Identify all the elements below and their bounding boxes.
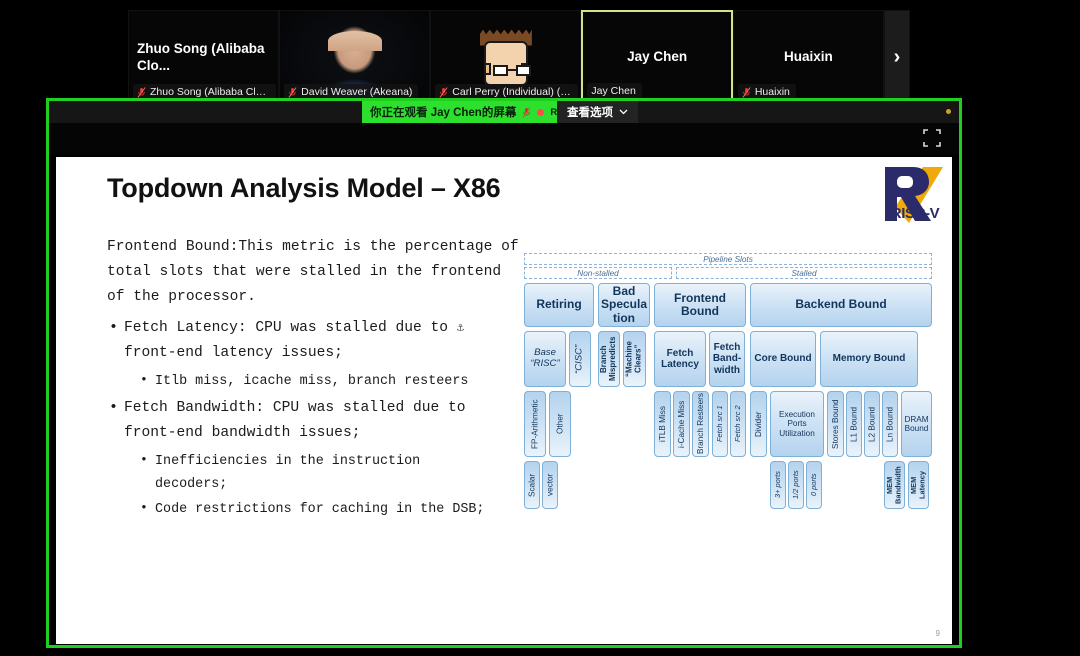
diagram-group-label: Stalled (676, 267, 932, 279)
mic-muted-icon (137, 87, 146, 98)
participant-display-name: Jay Chen (621, 49, 693, 65)
bullet-decoder-inefficiencies: Inefficiencies in the instruction decode… (107, 450, 527, 496)
diagram-node: Fetch Band- width (709, 331, 745, 387)
bullet-fetch-latency: Fetch Latency: CPU was stalled due to ⚓ … (107, 316, 527, 366)
bullet-fetch-bandwidth: Fetch Bandwidth: CPU was stalled due to … (107, 396, 527, 446)
participant-display-name: Zhuo Song (Alibaba Clo... (129, 41, 278, 73)
slide-body-text: Frontend Bound:This metric is the percen… (107, 235, 527, 523)
diagram-node: 0 ports (806, 461, 822, 509)
mouse-cursor-glyph: ⚓ (457, 321, 464, 335)
diagram-node: MEM Bandwidth (884, 461, 905, 509)
connection-status-dot (946, 109, 951, 114)
diagram-node: Memory Bound (820, 331, 918, 387)
view-options-button[interactable]: 查看选项 (557, 101, 638, 123)
diagram-node: Retiring (524, 283, 594, 327)
bullet-dsb-restrictions: Code restrictions for caching in the DSB… (107, 498, 527, 521)
viewing-share-text: 你正在观看 Jay Chen的屏幕 (370, 104, 516, 120)
participant-name-label: Carl Perry (Individual) (he/him) (452, 86, 572, 98)
participant-namebar: Jay Chen (587, 83, 641, 99)
shared-screen-frame: 你正在观看 Jay Chen的屏幕 REC 查看选项 Topdown Analy… (46, 98, 962, 648)
diagram-node: 3+ ports (770, 461, 786, 509)
participant-tile-jay-chen[interactable]: Jay Chen Jay Chen (581, 10, 732, 105)
bullet-latency-causes: Itlb miss, icache miss, branch resteers (107, 370, 527, 393)
participant-name-label: Zhuo Song (Alibaba Cloud) (150, 86, 270, 98)
diagram-node: DRAM Bound (901, 391, 932, 457)
mic-muted-icon (439, 87, 448, 98)
diagram-node: L1 Bound (846, 391, 862, 457)
slide-paragraph: Frontend Bound:This metric is the percen… (107, 235, 527, 310)
mic-muted-icon (522, 107, 531, 118)
diagram-node: Bad Specula tion (598, 283, 650, 327)
diagram-node: Scalar (524, 461, 540, 509)
share-status-bar: 你正在观看 Jay Chen的屏幕 REC 查看选项 (49, 101, 959, 123)
mic-muted-icon (288, 87, 297, 98)
diagram-node: Fetch src 2 (730, 391, 746, 457)
bullet-text: Inefficiencies in the instruction (155, 454, 420, 469)
diagram-node: “CISC” (569, 331, 591, 387)
fullscreen-icon[interactable] (923, 129, 941, 147)
diagram-group-label: Pipeline Slots (524, 253, 932, 265)
next-participants-button[interactable]: › (884, 10, 910, 105)
diagram-node: iTLB Miss (654, 391, 671, 457)
mic-muted-icon (742, 87, 751, 98)
viewing-share-banner: 你正在观看 Jay Chen的屏幕 REC (362, 101, 580, 123)
bullet-text-continued: front-end latency issues; (124, 341, 527, 366)
diagram-node: “Machine Clears” (623, 331, 646, 387)
participant-display-name: Huaixin (778, 49, 839, 65)
diagram-node: Fetch src 1 (712, 391, 728, 457)
diagram-node: Frontend Bound (654, 283, 746, 327)
diagram-node: MEM Latency (908, 461, 929, 509)
bullet-text-continued: front-end bandwidth issues; (124, 421, 527, 446)
participant-tile-david-weaver[interactable]: David Weaver (Akeana) (279, 10, 430, 105)
avatar-ear-left (484, 63, 491, 75)
participant-filmstrip: Zhuo Song (Alibaba Clo... Zhuo Song (Ali… (128, 10, 910, 105)
avatar-glasses (493, 65, 531, 76)
bullet-text: Fetch Latency: CPU was stalled due to (124, 320, 448, 336)
diagram-node: Stores Bound (827, 391, 844, 457)
page-title: Topdown Analysis Model – X86 (107, 173, 500, 204)
share-toolbar (49, 123, 959, 155)
diagram-node: i-Cache Miss (673, 391, 690, 457)
participant-tile-carl-perry[interactable]: Carl Perry (Individual) (he/him) (430, 10, 581, 105)
risc-v-wordmark: RISC-V (879, 205, 951, 222)
diagram-node: Divider (750, 391, 767, 457)
diagram-node: Ln Bound (882, 391, 898, 457)
diagram-node: 1/2 ports (788, 461, 804, 509)
diagram-node: vector (542, 461, 558, 509)
diagram-node: Branch Resteers (692, 391, 709, 457)
bullet-text: Fetch Bandwidth: CPU was stalled due to (124, 400, 466, 416)
participant-name-label: Jay Chen (591, 85, 635, 97)
diagram-node: Execution Ports Utilization (770, 391, 824, 457)
participant-name-label: Huaixin (755, 86, 790, 98)
view-options-label: 查看选项 (567, 104, 613, 120)
diagram-group-label: Non-stalled (524, 267, 672, 279)
diagram-node: FP-Arithmetic (524, 391, 546, 457)
diagram-node: Core Bound (750, 331, 816, 387)
diagram-node: Fetch Latency (654, 331, 706, 387)
participant-tile-huaixin[interactable]: Huaixin Huaixin (733, 10, 884, 105)
chevron-down-icon (619, 109, 628, 115)
diagram-node: Other (549, 391, 571, 457)
avatar-face (484, 41, 528, 86)
recording-indicator-dot (537, 109, 544, 116)
topdown-hierarchy-diagram: Pipeline SlotsNon-stalledStalledRetiring… (522, 253, 934, 543)
diagram-node: Branch Mispredicts (598, 331, 620, 387)
participant-name-label: David Weaver (Akeana) (301, 86, 412, 98)
diagram-node: L2 Bound (864, 391, 880, 457)
presentation-slide: Topdown Analysis Model – X86 RISC-V Fron… (56, 157, 952, 644)
diagram-node: Base “RISC” (524, 331, 566, 387)
diagram-node: Backend Bound (750, 283, 932, 327)
avatar (480, 30, 532, 86)
slide-page-number: 9 (936, 629, 940, 638)
bullet-text-continued: decoders; (155, 473, 527, 496)
participant-tile-zhuo-song[interactable]: Zhuo Song (Alibaba Clo... Zhuo Song (Ali… (128, 10, 279, 105)
